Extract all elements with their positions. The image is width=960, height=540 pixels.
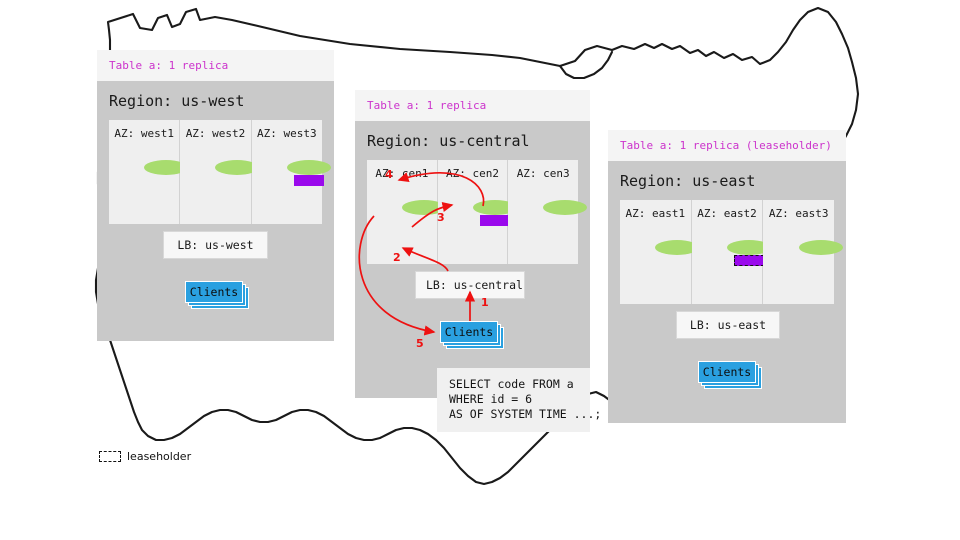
cylinder-top-ellipse — [287, 160, 331, 175]
arrow-label-2: 2 — [393, 251, 401, 264]
az-cell-east2[interactable]: AZ: east2 — [692, 200, 764, 304]
clients-label-us-east: Clients — [698, 361, 756, 383]
az-label-west2: AZ: west2 — [180, 127, 250, 140]
az-cell-cen3[interactable]: AZ: cen3 — [508, 160, 578, 264]
region-title-us-west: Region: us-west — [97, 81, 334, 120]
clients-label-us-central: Clients — [440, 321, 498, 343]
az-cell-east1[interactable]: AZ: east1 — [620, 200, 692, 304]
load-balancer-us-central[interactable]: LB: us-central — [415, 271, 525, 299]
az-row-us-central: AZ: cen1 AZ: cen2 — [367, 160, 578, 264]
replica-bar-east2-leaseholder — [734, 255, 764, 266]
region-title-us-east: Region: us-east — [608, 161, 846, 200]
az-label-east3: AZ: east3 — [763, 207, 834, 220]
cylinder-top-ellipse — [543, 200, 587, 215]
region-panel-us-central: Table a: 1 replica Region: us-central AZ… — [355, 90, 590, 398]
region-title-us-central: Region: us-central — [355, 121, 590, 160]
az-label-cen3: AZ: cen3 — [508, 167, 578, 180]
az-label-cen2: AZ: cen2 — [438, 167, 508, 180]
az-cell-cen1[interactable]: AZ: cen1 — [367, 160, 438, 264]
arrow-label-3: 3 — [437, 211, 445, 224]
az-label-west3: AZ: west3 — [252, 127, 322, 140]
cylinder-top-ellipse — [799, 240, 843, 255]
replica-header-us-east: Table a: 1 replica (leaseholder) — [608, 130, 846, 161]
arrow-label-1: 1 — [481, 296, 489, 309]
az-label-east1: AZ: east1 — [620, 207, 691, 220]
clients-stack-us-west[interactable]: Clients — [185, 281, 247, 305]
az-label-cen1: AZ: cen1 — [367, 167, 437, 180]
az-cell-west3[interactable]: AZ: west3 — [252, 120, 322, 224]
az-label-west1: AZ: west1 — [109, 127, 179, 140]
az-row-us-east: AZ: east1 AZ: east2 — [620, 200, 834, 304]
legend-label: leaseholder — [127, 450, 191, 463]
sql-query-box: SELECT code FROM a WHERE id = 6 AS OF SY… — [437, 368, 590, 432]
az-cell-east3[interactable]: AZ: east3 — [763, 200, 834, 304]
load-balancer-us-west[interactable]: LB: us-west — [163, 231, 268, 259]
az-cell-west1[interactable]: AZ: west1 — [109, 120, 180, 224]
clients-stack-us-central[interactable]: Clients — [440, 321, 502, 345]
leaseholder-swatch-icon — [99, 451, 121, 462]
az-row-us-west: AZ: west1 AZ: west2 — [109, 120, 322, 224]
replica-header-us-west: Table a: 1 replica — [97, 50, 334, 81]
replica-bar-west3 — [294, 175, 324, 186]
replica-header-us-central: Table a: 1 replica — [355, 90, 590, 121]
az-cell-cen2[interactable]: AZ: cen2 — [438, 160, 509, 264]
az-cell-west2[interactable]: AZ: west2 — [180, 120, 251, 224]
load-balancer-us-east[interactable]: LB: us-east — [676, 311, 780, 339]
diagram-canvas: Table a: 1 replica Region: us-west AZ: w… — [0, 0, 960, 540]
clients-label-us-west: Clients — [185, 281, 243, 303]
legend-leaseholder: leaseholder — [99, 450, 191, 463]
replica-bar-cen2 — [480, 215, 510, 226]
arrow-label-5: 5 — [416, 337, 424, 350]
clients-stack-us-east[interactable]: Clients — [698, 361, 760, 385]
arrow-label-4: 4 — [385, 168, 393, 181]
az-label-east2: AZ: east2 — [692, 207, 763, 220]
region-body-us-central: Region: us-central AZ: cen1 AZ: cen2 — [355, 121, 590, 398]
